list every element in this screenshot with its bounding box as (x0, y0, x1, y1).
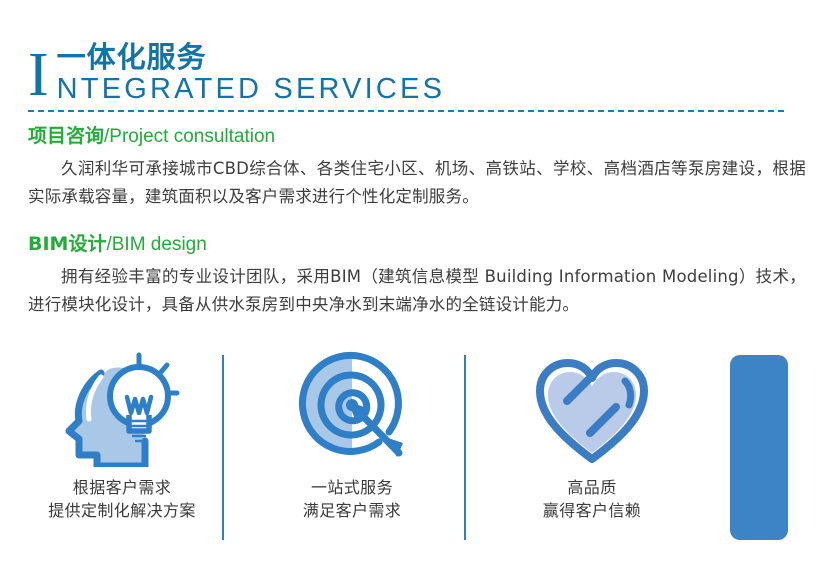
target-arrow-icon (252, 348, 452, 468)
section-heading: 项目咨询/Project consultation (28, 124, 806, 149)
section-heading-english: Project consultation (109, 126, 275, 147)
section-body-text: 久润利华可承接城市CBD综合体、各类住宅小区、机场、高铁站、学校、高档酒店等泵房… (28, 155, 806, 211)
title-lines: 一体化服务 NTEGRATED SERVICES (57, 42, 445, 105)
feature-item: 根据客户需求 提供定制化解决方案 (22, 348, 222, 522)
section-heading-english: BIM design (112, 234, 207, 255)
head-lightbulb-icon (22, 348, 222, 468)
feature-row: 根据客户需求 提供定制化解决方案 (0, 348, 830, 548)
page-title: I 一体化服务 NTEGRATED SERVICES (28, 42, 445, 106)
decorative-blue-block (730, 355, 788, 540)
feature-caption-line-1: 高品质 (492, 476, 692, 499)
title-english: NTEGRATED SERVICES (57, 74, 445, 105)
section-body-text: 拥有经验丰富的专业设计团队，采用BIM（建筑信息模型 Building Info… (28, 263, 806, 319)
section-bim-design: BIM设计/BIM design 拥有经验丰富的专业设计团队，采用BIM（建筑信… (28, 232, 806, 319)
feature-item: 高品质 赢得客户信赖 (492, 348, 692, 522)
section-heading-chinese: 项目咨询 (28, 125, 104, 147)
feature-caption-line-2: 赢得客户信赖 (492, 499, 692, 522)
feature-caption: 高品质 赢得客户信赖 (492, 476, 692, 522)
title-chinese: 一体化服务 (57, 42, 445, 73)
section-heading: BIM设计/BIM design (28, 232, 806, 257)
feature-caption: 一站式服务 满足客户需求 (252, 476, 452, 522)
page-root: { "header": { "drop_cap": "I", "title_cn… (0, 0, 830, 562)
feature-separator (464, 355, 466, 540)
section-project-consultation: 项目咨询/Project consultation 久润利华可承接城市CBD综合… (28, 124, 806, 211)
heart-icon (492, 348, 692, 468)
drop-cap-letter: I (28, 44, 49, 106)
feature-caption-line-1: 根据客户需求 (22, 476, 222, 499)
feature-item: 一站式服务 满足客户需求 (252, 348, 452, 522)
section-heading-chinese: BIM设计 (28, 233, 106, 255)
feature-caption: 根据客户需求 提供定制化解决方案 (22, 476, 222, 522)
feature-caption-line-2: 提供定制化解决方案 (22, 499, 222, 522)
dashed-divider (28, 110, 784, 112)
feature-caption-line-1: 一站式服务 (252, 476, 452, 499)
feature-caption-line-2: 满足客户需求 (252, 499, 452, 522)
feature-separator (222, 355, 224, 540)
